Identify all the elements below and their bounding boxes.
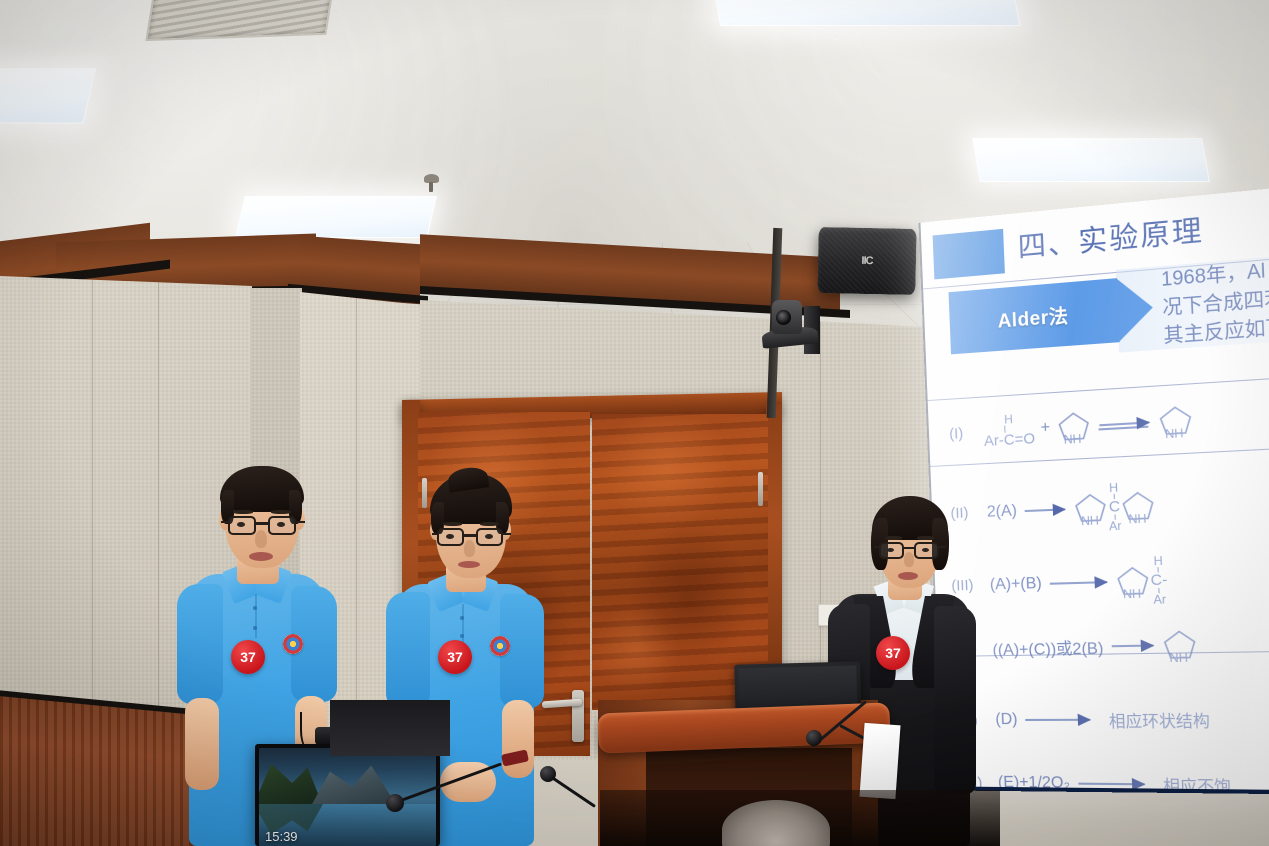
pyrrole-ring-icon: NH	[1056, 410, 1092, 443]
ceiling-light-panel	[0, 68, 96, 123]
equation-lhs: 2(A) NH H CAr NH	[986, 480, 1157, 537]
glasses-temple	[939, 546, 946, 548]
pyrrole-ring-icon: NH	[1073, 492, 1109, 524]
eye	[922, 548, 929, 552]
speaker-brand-label: IIC	[861, 255, 872, 267]
equipment-shelf	[330, 700, 450, 756]
methine-bridge-group: H CAr	[1107, 481, 1122, 532]
glasses-temple	[221, 521, 230, 523]
alder-intro-text: 1968年，Al 况下合成四苯基 其主反应如下：	[1161, 256, 1269, 350]
badge-number-label: 37	[885, 645, 901, 661]
nh-label: NH	[1123, 586, 1142, 601]
left-sleeve	[386, 592, 430, 708]
wallpaper-mountain	[259, 758, 323, 806]
team-emblem	[490, 636, 510, 656]
nose	[464, 540, 475, 557]
fire-sprinkler-icon	[424, 174, 439, 183]
equation-lhs: (A)+(B) NH H C-Ar	[989, 554, 1168, 609]
pyrrole-ring-icon: NH	[1115, 565, 1152, 597]
mouth	[249, 552, 273, 561]
glasses-bridge	[904, 547, 914, 549]
microphone-head	[806, 730, 822, 746]
nh-label: NH	[1063, 431, 1081, 446]
wallpaper-mountain	[311, 762, 397, 806]
equation-reactant: (A)+(B)	[990, 574, 1043, 594]
eye	[887, 548, 894, 552]
equation-lhs: H Ar-C=O + NH NH	[983, 402, 1194, 449]
door-handle-plate[interactable]	[572, 690, 584, 742]
badge-number-label: 37	[240, 649, 256, 665]
alder-tag-arrow-icon	[1116, 275, 1154, 342]
equation-number: (I)	[929, 423, 984, 443]
eyebrow	[443, 522, 462, 526]
reaction-arrow-icon	[1111, 645, 1153, 648]
equation-lhs: ((A)+(C))或2(B) NH	[992, 629, 1198, 663]
equation-reactant: (D)	[995, 711, 1018, 729]
eyebrow	[885, 536, 902, 540]
suit-sleeve	[934, 606, 976, 794]
camera-lens-icon	[776, 310, 791, 325]
polo-placket	[462, 604, 464, 646]
door-frame-right	[766, 404, 782, 704]
equation-lhs: (E)+1/2O₂	[998, 774, 1153, 794]
equation-reactant: (E)+1/2O₂	[998, 774, 1071, 793]
forearm	[185, 698, 219, 790]
plus-sign: +	[1040, 419, 1050, 438]
pyrrole-ring-icon: NH	[1161, 629, 1198, 661]
equilibrium-arrow-icon	[1099, 421, 1149, 426]
glasses-bridge	[464, 534, 476, 537]
polo-button	[253, 606, 257, 610]
polo-button	[460, 634, 464, 638]
air-vent	[145, 0, 334, 41]
conference-room-photo: IIC 四、实验原理 Alder法 1968年，Al 况下合成四苯基	[0, 0, 1269, 846]
left-sleeve	[177, 584, 223, 704]
nh-label: NH	[1128, 511, 1147, 526]
mouth	[458, 561, 480, 568]
ceiling-light-panel	[972, 138, 1210, 182]
mouth	[898, 572, 918, 580]
eye	[277, 522, 285, 527]
reaction-arrow-icon	[1025, 508, 1065, 512]
equation-product: 相应环状结构	[1108, 707, 1210, 732]
nose	[255, 530, 267, 548]
eye	[485, 534, 493, 539]
methine-bridge-group: H C-Ar	[1150, 554, 1169, 606]
door-hinge-icon	[758, 472, 763, 506]
nose	[904, 552, 914, 567]
equation-row: (V) (D) 相应环状结构	[940, 706, 1269, 732]
glasses-temple	[432, 533, 439, 535]
equation-row: (I) H Ar-C=O + NH	[928, 397, 1269, 452]
eyebrow	[233, 510, 253, 514]
slide-title: 四、实验原理	[1017, 208, 1205, 266]
number-badge[interactable]: 37	[876, 636, 910, 670]
number-badge[interactable]: 37	[438, 640, 472, 674]
polo-placket	[255, 594, 257, 638]
aldehyde-group: H Ar-C=O	[983, 412, 1035, 449]
pyrrole-ring-icon: NH	[1157, 404, 1194, 437]
eye	[237, 522, 245, 527]
nh-label: NH	[1165, 426, 1184, 442]
slide-divider	[930, 448, 1269, 467]
glasses-temple	[296, 521, 305, 523]
badge-number-label: 37	[447, 649, 463, 665]
reaction-arrow-icon	[1050, 581, 1107, 585]
nh-label: NH	[1081, 513, 1099, 528]
ptz-camera	[760, 296, 830, 358]
eyebrow	[917, 536, 934, 540]
polo-button	[460, 616, 464, 620]
ceiling-light-panel	[712, 0, 1020, 26]
ceiling-light-panel	[235, 196, 437, 238]
eye	[446, 534, 454, 539]
equation-reactant: 2(A)	[987, 502, 1018, 521]
wall-speaker: IIC	[817, 227, 916, 295]
pyrrole-ring-icon: NH	[1120, 489, 1157, 522]
glasses-temple	[874, 546, 881, 548]
slide-divider	[928, 377, 1269, 401]
team-emblem	[283, 634, 303, 654]
eyebrow	[480, 522, 499, 526]
alder-tag-label: Alder法	[997, 300, 1069, 333]
reaction-arrow-icon	[1025, 719, 1090, 721]
forearm	[502, 700, 534, 778]
number-badge[interactable]: 37	[231, 640, 265, 674]
lock-screen-clock: 15:39	[265, 829, 298, 844]
reaction-arrow-icon	[1078, 783, 1144, 786]
slide-title-accent-bar	[933, 229, 1005, 280]
speech-notes-paper[interactable]	[859, 723, 900, 799]
equation-lhs: (D)	[995, 710, 1099, 729]
glasses-temple	[503, 533, 511, 535]
alder-method-tag: Alder法	[949, 278, 1120, 354]
polo-button	[253, 626, 257, 630]
glasses-bridge	[256, 522, 268, 525]
equation-reactant: ((A)+(C))或2(B)	[992, 634, 1104, 660]
equation-product: 相应不饱	[1162, 772, 1231, 794]
microphone-head	[386, 794, 404, 812]
eyebrow	[271, 510, 291, 514]
